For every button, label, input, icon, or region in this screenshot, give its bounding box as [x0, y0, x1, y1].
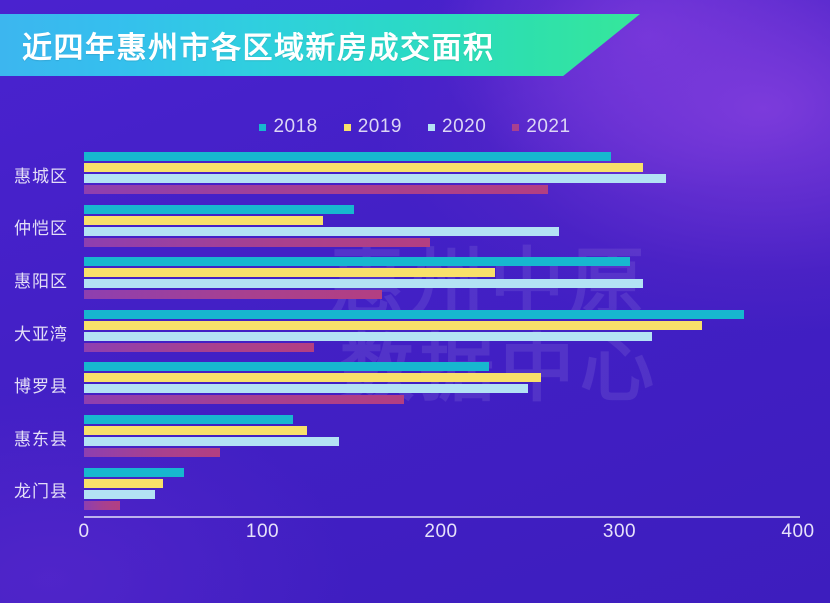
bar-龙门县-2021[interactable]: [84, 501, 120, 510]
legend-label: 2021: [526, 116, 570, 138]
legend-label: 2019: [358, 116, 402, 138]
x-axis-ticks: 0100200300400: [0, 521, 830, 555]
category-label-大亚湾: 大亚湾: [14, 306, 68, 359]
bar-惠城区-2019[interactable]: [84, 163, 643, 172]
bar-仲恺区-2020[interactable]: [84, 227, 559, 236]
bar-仲恺区-2019[interactable]: [84, 216, 323, 225]
page-title: 近四年惠州市各区域新房成交面积: [22, 23, 495, 67]
bar-博罗县-2021[interactable]: [84, 395, 404, 404]
category-label-惠城区: 惠城区: [14, 148, 68, 201]
bar-惠东县-2020[interactable]: [84, 437, 339, 446]
legend-item-2020[interactable]: 2020: [428, 116, 486, 138]
bar-group-惠东县: [84, 411, 798, 464]
bar-惠城区-2020[interactable]: [84, 174, 666, 183]
category-label-仲恺区: 仲恺区: [14, 201, 68, 254]
legend-item-2019[interactable]: 2019: [344, 116, 402, 138]
bar-大亚湾-2020[interactable]: [84, 332, 652, 341]
bars-container: [84, 148, 798, 516]
bar-仲恺区-2018[interactable]: [84, 205, 354, 214]
legend-swatch-icon: [344, 124, 351, 131]
x-tick-label-300: 300: [603, 521, 636, 543]
bar-group-龙门县: [84, 464, 798, 517]
legend-label: 2020: [442, 116, 486, 138]
x-axis-line: [84, 516, 800, 518]
legend-item-2021[interactable]: 2021: [512, 116, 570, 138]
bar-博罗县-2019[interactable]: [84, 373, 541, 382]
bar-博罗县-2020[interactable]: [84, 384, 528, 393]
category-axis-labels: 惠城区仲恺区惠阳区大亚湾博罗县惠东县龙门县: [0, 148, 76, 516]
bar-惠城区-2018[interactable]: [84, 152, 611, 161]
bar-龙门县-2020[interactable]: [84, 490, 155, 499]
category-label-惠东县: 惠东县: [14, 411, 68, 464]
bar-group-仲恺区: [84, 201, 798, 254]
bar-博罗县-2018[interactable]: [84, 362, 489, 371]
bar-惠城区-2021[interactable]: [84, 185, 548, 194]
bar-仲恺区-2021[interactable]: [84, 238, 430, 247]
category-label-龙门县: 龙门县: [14, 464, 68, 517]
bar-大亚湾-2021[interactable]: [84, 343, 314, 352]
legend-swatch-icon: [259, 124, 266, 131]
bar-惠阳区-2020[interactable]: [84, 279, 643, 288]
bar-group-惠阳区: [84, 253, 798, 306]
legend-swatch-icon: [512, 124, 519, 131]
bar-惠阳区-2021[interactable]: [84, 290, 382, 299]
title-banner: 近四年惠州市各区域新房成交面积: [0, 14, 640, 76]
bar-大亚湾-2018[interactable]: [84, 310, 744, 319]
bar-group-大亚湾: [84, 306, 798, 359]
x-tick-label-0: 0: [78, 521, 89, 543]
x-tick-label-200: 200: [424, 521, 457, 543]
chart-page: 近四年惠州市各区域新房成交面积 惠州中原 数据中心 20182019202020…: [0, 0, 830, 603]
x-tick-label-400: 400: [781, 521, 814, 543]
bar-group-博罗县: [84, 358, 798, 411]
category-label-惠阳区: 惠阳区: [14, 253, 68, 306]
bar-龙门县-2018[interactable]: [84, 468, 184, 477]
bar-大亚湾-2019[interactable]: [84, 321, 702, 330]
x-tick-label-100: 100: [246, 521, 279, 543]
category-label-博罗县: 博罗县: [14, 358, 68, 411]
legend-item-2018[interactable]: 2018: [259, 116, 317, 138]
bar-惠东县-2018[interactable]: [84, 415, 293, 424]
bar-惠阳区-2019[interactable]: [84, 268, 495, 277]
bar-惠东县-2019[interactable]: [84, 426, 307, 435]
bar-惠东县-2021[interactable]: [84, 448, 220, 457]
bar-惠阳区-2018[interactable]: [84, 257, 630, 266]
bar-龙门县-2019[interactable]: [84, 479, 163, 488]
legend-swatch-icon: [428, 124, 435, 131]
chart-legend: 2018201920202021: [0, 116, 830, 138]
chart-plot-area: 惠城区仲恺区惠阳区大亚湾博罗县惠东县龙门县: [0, 148, 830, 528]
legend-label: 2018: [273, 116, 317, 138]
bar-group-惠城区: [84, 148, 798, 201]
